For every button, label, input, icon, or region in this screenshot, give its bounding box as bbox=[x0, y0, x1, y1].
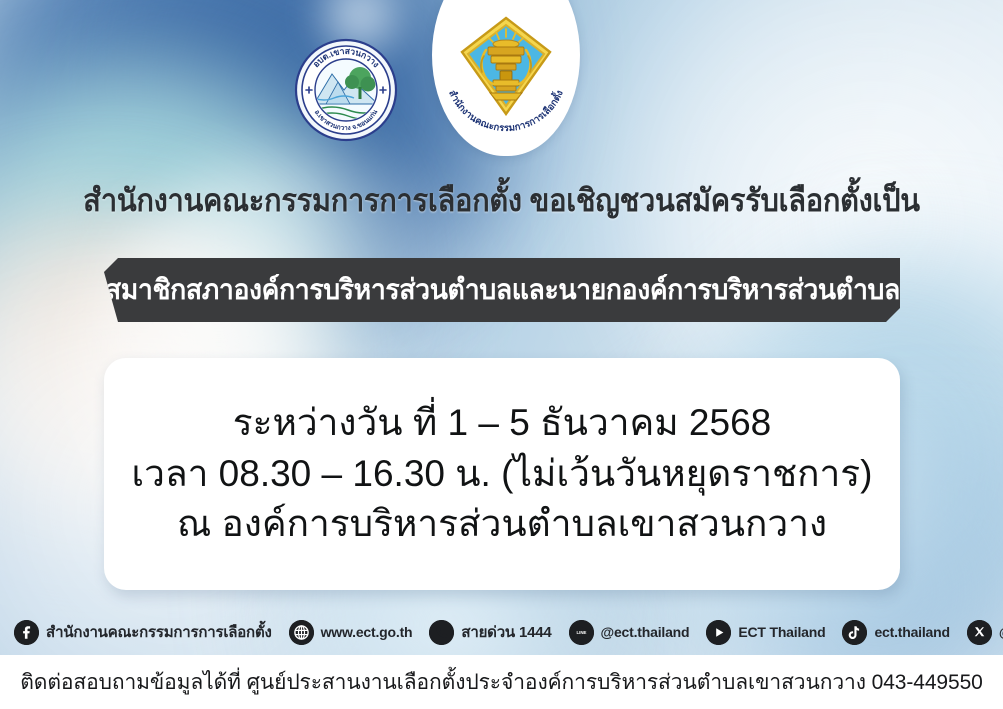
tiktok-icon bbox=[842, 620, 867, 645]
social-item-website[interactable]: www.ect.go.th bbox=[289, 620, 413, 645]
contact-footer: ติดต่อสอบถามข้อมูลได้ที่ ศูนย์ประสานงานเ… bbox=[0, 655, 1003, 709]
phone-icon bbox=[429, 620, 454, 645]
social-label-line: @ect.thailand bbox=[601, 624, 690, 640]
social-label-website: www.ect.go.th bbox=[321, 624, 413, 640]
x-icon bbox=[967, 620, 992, 645]
social-label-youtube: ECT Thailand bbox=[738, 624, 825, 640]
social-item-line[interactable]: LINE @ect.thailand bbox=[569, 620, 690, 645]
line-icon: LINE bbox=[569, 620, 594, 645]
position-banner: สมาชิกสภาองค์การบริหารส่วนตำบลและนายกองค… bbox=[104, 258, 900, 322]
details-card: ระหว่างวัน ที่ 1 – 5 ธันวาคม 2568 เวลา 0… bbox=[104, 358, 900, 590]
social-label-hotline: สายด่วน 1444 bbox=[461, 620, 551, 644]
election-announcement-poster: สำนักงานคณะกรรมการการเลือกตั้ง bbox=[0, 0, 1003, 709]
details-line-time: เวลา 08.30 – 16.30 น. (ไม่เว้นวันหยุดราช… bbox=[132, 450, 873, 499]
svg-text:LINE: LINE bbox=[576, 630, 586, 635]
social-item-hotline[interactable]: สายด่วน 1444 bbox=[429, 620, 551, 645]
globe-icon bbox=[289, 620, 314, 645]
social-item-x[interactable]: @EctThailand bbox=[967, 620, 1003, 645]
social-label-facebook: สำนักงานคณะกรรมการการเลือกตั้ง bbox=[46, 620, 272, 644]
local-municipality-seal-icon: อบต.เขาสวนกวาง อ.เขาสวนกวาง จ.ขอนแก่น bbox=[294, 38, 398, 142]
social-links-bar: สำนักงานคณะกรรมการการเลือกตั้ง www.ect.g… bbox=[0, 612, 1003, 652]
details-line-date: ระหว่างวัน ที่ 1 – 5 ธันวาคม 2568 bbox=[233, 399, 772, 448]
details-line-venue: ณ องค์การบริหารส่วนตำบลเขาสวนกวาง bbox=[177, 500, 827, 549]
contact-footer-text: ติดต่อสอบถามข้อมูลได้ที่ ศูนย์ประสานงานเ… bbox=[20, 666, 983, 699]
position-banner-text: สมาชิกสภาองค์การบริหารส่วนตำบลและนายกองค… bbox=[104, 268, 899, 312]
youtube-icon bbox=[706, 620, 731, 645]
social-item-youtube[interactable]: ECT Thailand bbox=[706, 620, 825, 645]
social-item-tiktok[interactable]: ect.thailand bbox=[842, 620, 949, 645]
social-item-facebook[interactable]: สำนักงานคณะกรรมการการเลือกตั้ง bbox=[14, 620, 272, 645]
social-label-x: @EctThailand bbox=[999, 624, 1003, 640]
facebook-icon bbox=[14, 620, 39, 645]
social-label-tiktok: ect.thailand bbox=[874, 624, 949, 640]
ect-emblem-icon bbox=[460, 16, 552, 116]
headline-text: สำนักงานคณะกรรมการการเลือกตั้ง ขอเชิญชวน… bbox=[40, 182, 963, 218]
